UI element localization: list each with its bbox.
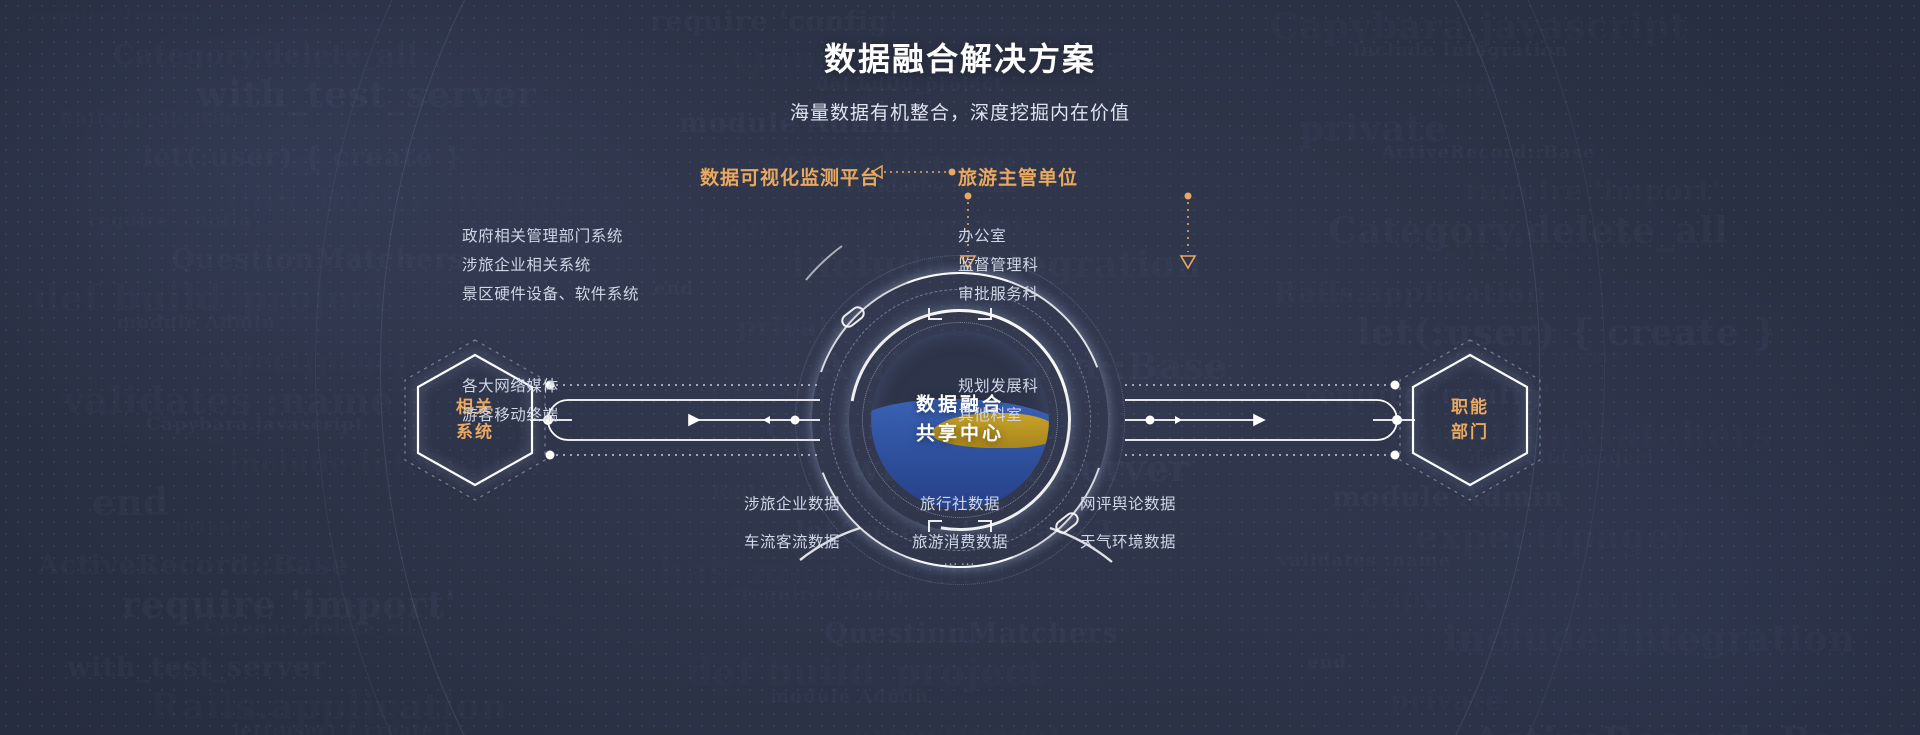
list-right-departments-bottom: 规划发展科其他科室 [958, 372, 1039, 430]
node-tourism-authority[interactable]: 旅游主管单位 [958, 163, 1078, 190]
hexagon-right-line2: 部门 [1451, 420, 1489, 445]
list-left-sources-top: 政府相关管理部门系统涉旅企业相关系统景区硬件设备、软件系统 [462, 222, 639, 309]
list-item-data-type: 旅行社数据 [898, 490, 1022, 520]
list-left-sources-bottom: 各大网络媒体游客移动终端 [462, 372, 559, 430]
node-visualization-platform[interactable]: 数据可视化监测平台 [700, 163, 880, 190]
page-title: 数据融合解决方案 [0, 34, 1920, 80]
hexagon-functional-departments[interactable]: 职能 部门 [1395, 339, 1545, 501]
node-tourism-authority-label: 旅游主管单位 [958, 168, 1078, 189]
list-item-source: 游客移动终端 [462, 401, 559, 430]
list-right-departments-top: 办公室监督管理科审批服务科 [958, 222, 1039, 309]
hexagon-right-line1: 职能 [1451, 395, 1489, 420]
list-item-department: 其他科室 [958, 401, 1039, 430]
ring-tick-top-right [978, 308, 992, 320]
node-visualization-platform-label: 数据可视化监测平台 [700, 168, 880, 189]
list-item-source: 景区硬件设备、软件系统 [462, 280, 639, 309]
list-item-department: 办公室 [958, 222, 1039, 251]
ring-tick-top-left [928, 308, 942, 320]
list-item-data-type: 网评舆论数据 [1066, 490, 1190, 520]
header: 数据融合解决方案 海量数据有机整合，深度挖掘内在价值 [0, 34, 1920, 125]
page-subtitle: 海量数据有机整合，深度挖掘内在价值 [0, 98, 1920, 125]
list-item-department: 审批服务科 [958, 280, 1039, 309]
bottom-data-grid: 涉旅企业数据旅行社数据网评舆论数据车流客流数据旅游消费数据天气环境数据 [0, 490, 1920, 558]
list-item-data-type: 涉旅企业数据 [730, 490, 854, 520]
hexagon-functional-departments-label: 职能 部门 [1451, 395, 1489, 444]
list-item-source: 各大网络媒体 [462, 372, 559, 401]
list-item-department: 监督管理科 [958, 251, 1039, 280]
bottom-ellipsis: …… [0, 552, 1920, 569]
list-item-source: 涉旅企业相关系统 [462, 251, 639, 280]
list-item-source: 政府相关管理部门系统 [462, 222, 639, 251]
list-item-department: 规划发展科 [958, 372, 1039, 401]
